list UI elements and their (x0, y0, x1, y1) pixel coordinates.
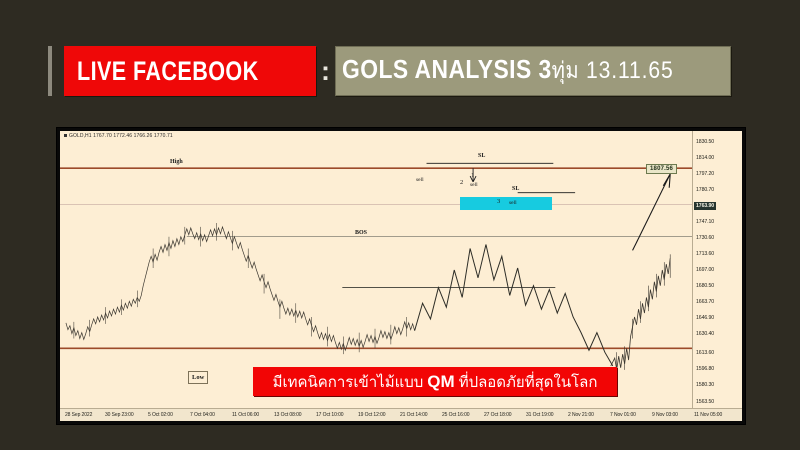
target-price-flag: 1807.56 (646, 164, 677, 174)
bos-label: BOS (355, 230, 367, 236)
time-tick: 17 Oct 10:00 (316, 412, 343, 418)
title-date-text: 13.11.65 (586, 57, 674, 84)
price-tick: 1713.60 (696, 251, 714, 257)
title-separator: : (316, 46, 335, 96)
price-axis[interactable]: 1830.50 1814.00 1797.20 1780.70 1763.90 … (692, 131, 742, 408)
price-tick: 1797.20 (696, 171, 714, 177)
live-facebook-label: LIVE FACEBOOK (77, 56, 259, 87)
promo-text-before: มีเทคนิคการเข้าไม้แบบ (273, 374, 424, 391)
gols-analysis-badge: GOLS ANALYSIS 3ทุ่ม 13.11.65 (335, 46, 731, 96)
time-tick: 19 Oct 12:00 (358, 412, 385, 418)
sell-entry-3-number: 3 (497, 198, 500, 205)
time-tick: 11 Nov 05:00 (694, 412, 722, 418)
title-thai-text: ทุ่ม (552, 57, 580, 83)
price-tick: 1646.90 (696, 315, 714, 321)
title-banner: LIVE FACEBOOK : GOLS ANALYSIS 3ทุ่ม 13.1… (48, 46, 731, 96)
price-tick: 1630.40 (696, 331, 714, 337)
price-tick: 1596.80 (696, 366, 714, 372)
sl-label-1: SL (478, 153, 485, 159)
current-price-tick: 1763.90 (694, 202, 716, 210)
time-axis[interactable]: 28 Sep 2022 30 Sep 23:00 5 Oct 02:00 7 O… (60, 408, 742, 421)
time-tick: 11 Oct 06:00 (232, 412, 259, 418)
price-tick: 1563.50 (696, 399, 714, 405)
price-tick: 1680.50 (696, 283, 714, 289)
live-facebook-badge: LIVE FACEBOOK (64, 46, 316, 96)
title-main-text: GOLS ANALYSIS 3 (342, 54, 552, 84)
time-tick: 21 Oct 14:00 (400, 412, 427, 418)
time-tick: 25 Oct 16:00 (442, 412, 469, 418)
time-tick: 13 Oct 08:00 (274, 412, 301, 418)
high-label: High (170, 159, 183, 165)
price-tick: 1580.30 (696, 382, 714, 388)
time-tick: 9 Nov 03:00 (652, 412, 678, 418)
sl-label-2: SL (512, 186, 519, 192)
price-tick: 1613.60 (696, 350, 714, 356)
promo-qm-label: QM (423, 372, 458, 391)
low-label-box: Low (188, 371, 208, 384)
screenshot-root: LIVE FACEBOOK : GOLS ANALYSIS 3ทุ่ม 13.1… (0, 0, 800, 450)
sell-entry-1-label: sell (416, 177, 424, 183)
time-tick: 5 Oct 02:00 (148, 412, 173, 418)
supply-demand-zone (460, 197, 552, 210)
price-action-path-left (66, 227, 415, 350)
time-tick: 27 Oct 18:00 (484, 412, 511, 418)
sell-entry-2-label: sell (470, 182, 478, 188)
title-accent-bar (48, 46, 52, 96)
price-tick: 1780.70 (696, 187, 714, 193)
sell-entry-1-number: 1 (471, 172, 474, 179)
time-tick: 28 Sep 2022 (65, 412, 92, 418)
time-tick: 7 Oct 04:00 (190, 412, 215, 418)
sell-entry-3-label: sell (509, 200, 517, 206)
time-tick: 30 Sep 23:00 (105, 412, 134, 418)
sell-entry-2-number: 2 (460, 179, 463, 186)
time-tick: 7 Nov 01:00 (610, 412, 636, 418)
promo-text: มีเทคนิคการเข้าไม้แบบQMที่ปลอดภัยที่สุดใ… (273, 370, 598, 394)
price-tick: 1730.60 (696, 235, 714, 241)
price-tick: 1830.50 (696, 139, 714, 145)
bullish-target-arrow (633, 174, 671, 250)
price-tick: 1747.10 (696, 219, 714, 225)
promo-banner: มีเทคนิคการเข้าไม้แบบQMที่ปลอดภัยที่สุดใ… (253, 367, 617, 396)
price-tick: 1697.00 (696, 267, 714, 273)
time-tick: 2 Nov 21:00 (568, 412, 594, 418)
price-tick: 1663.70 (696, 299, 714, 305)
gols-analysis-label: GOLS ANALYSIS 3ทุ่ม 13.11.65 (342, 53, 674, 89)
time-tick: 31 Oct 19:00 (526, 412, 553, 418)
price-tick: 1814.00 (696, 155, 714, 161)
promo-text-after: ที่ปลอดภัยที่สุดในโลก (459, 374, 598, 391)
